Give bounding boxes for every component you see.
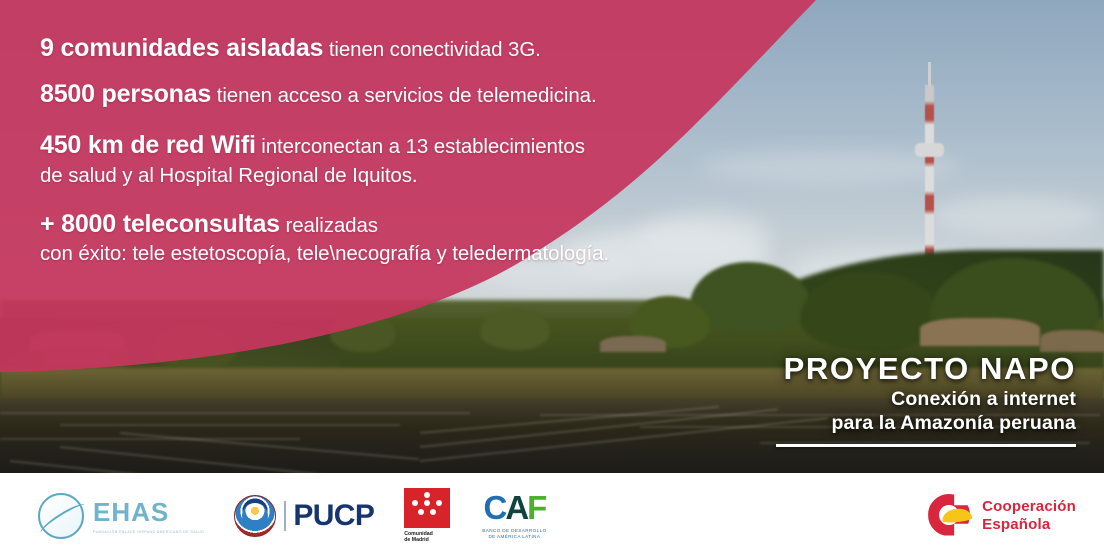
tree — [480, 308, 550, 350]
tower-antenna-dish-icon — [915, 143, 944, 157]
stats-block: 9 comunidades aisladas tienen conectivid… — [40, 33, 700, 281]
pucp-divider — [284, 501, 286, 531]
caf-subtitle: BANCO DE DESARROLLO DE AMÉRICA LATINA — [482, 528, 546, 541]
caf-letter-c: C — [483, 489, 505, 526]
madrid-line-2: de Madrid — [404, 537, 452, 544]
stat-4-bold: + 8000 teleconsultas — [40, 210, 280, 238]
tree — [330, 312, 396, 352]
partner-logos: EHAS FUNDACIÓN ENLACE HISPANO AMERICANO … — [38, 473, 547, 558]
boat-wake — [120, 432, 419, 460]
water-ripple — [0, 438, 300, 440]
stat-item-4: + 8000 teleconsultas realizadas con éxit… — [40, 209, 700, 268]
water-ripple — [0, 412, 470, 414]
madrid-subtitle: Comunidad de Madrid — [404, 531, 452, 544]
caf-letter-a: A — [505, 489, 527, 526]
background-photo: 9 comunidades aisladas tienen conectivid… — [0, 0, 1104, 473]
stat-3-rest: interconectan a 13 establecimientos — [256, 135, 585, 158]
project-title-block: PROYECTO NAPO Conexión a internet para l… — [776, 352, 1076, 447]
madrid-seven-stars-icon — [412, 500, 442, 516]
stat-2-rest: tienen acceso a servicios de telemedicin… — [211, 84, 596, 107]
cooperacion-line-2: Española — [982, 516, 1076, 534]
caf-wordmark: CAF — [483, 491, 545, 524]
stat-3-bold: 450 km de red Wifi — [40, 131, 256, 159]
project-title: PROYECTO NAPO — [776, 352, 1076, 385]
cooperacion-text: Cooperación Española — [982, 498, 1076, 533]
project-subtitle-line-1: Conexión a internet — [776, 388, 1076, 411]
caf-subtitle-line-2: DE AMÉRICA LATINA — [482, 534, 546, 540]
stat-item-1: 9 comunidades aisladas tienen conectivid… — [40, 33, 700, 65]
caf-letter-f: F — [527, 489, 545, 526]
hut-roof — [920, 318, 1040, 346]
pucp-wordmark: PUCP — [293, 499, 374, 533]
hut — [46, 350, 108, 366]
cloud — [930, 196, 1100, 236]
cooperacion-espanola-logo: Cooperación Española — [928, 473, 1076, 558]
footer-logo-bar: EHAS FUNDACIÓN ENLACE HISPANO AMERICANO … — [0, 473, 1104, 558]
ehas-globe-icon — [38, 493, 84, 539]
poster: 9 comunidades aisladas tienen conectivid… — [0, 0, 1104, 558]
hut-roof — [1040, 330, 1104, 352]
project-subtitle-line-2: para la Amazonía peruana — [776, 412, 1076, 435]
hut-roof — [30, 330, 126, 352]
stat-item-2: 8500 personas tienen acceso a servicios … — [40, 79, 700, 111]
stat-3-continuation: de salud y al Hospital Regional de Iquit… — [40, 162, 700, 189]
logo-caf: CAF BANCO DE DESARROLLO DE AMÉRICA LATIN… — [482, 491, 546, 541]
cooperacion-line-1: Cooperación — [982, 498, 1076, 516]
water-ripple — [60, 424, 400, 426]
stat-1-bold: 9 comunidades aisladas — [40, 34, 323, 62]
logo-cooperacion-espanola: Cooperación Española — [928, 494, 1076, 538]
stat-item-3: 450 km de red Wifi interconectan a 13 es… — [40, 130, 700, 189]
logo-comunidad-de-madrid: Comunidad de Madrid — [404, 488, 452, 544]
stat-1-rest: tienen conectividad 3G. — [323, 38, 541, 61]
logo-ehas: EHAS FUNDACIÓN ENLACE HISPANO AMERICANO … — [38, 493, 204, 539]
stat-2-bold: 8500 personas — [40, 80, 211, 108]
hut-roof — [600, 336, 666, 352]
project-title-rule — [776, 444, 1076, 447]
pucp-seal-icon — [234, 495, 276, 537]
stat-4-continuation: con éxito: tele estetoscopía, tele\necog… — [40, 240, 700, 267]
cooperacion-c-icon — [928, 494, 972, 538]
madrid-flag-icon — [404, 488, 450, 528]
ehas-text: EHAS FUNDACIÓN ENLACE HISPANO AMERICANO … — [93, 497, 204, 534]
stat-4-rest: realizadas — [280, 214, 378, 237]
ehas-subtitle: FUNDACIÓN ENLACE HISPANO AMERICANO DE SA… — [93, 530, 204, 534]
ehas-wordmark: EHAS — [93, 497, 204, 528]
boat-wake — [60, 446, 418, 473]
logo-pucp: PUCP — [234, 495, 374, 537]
